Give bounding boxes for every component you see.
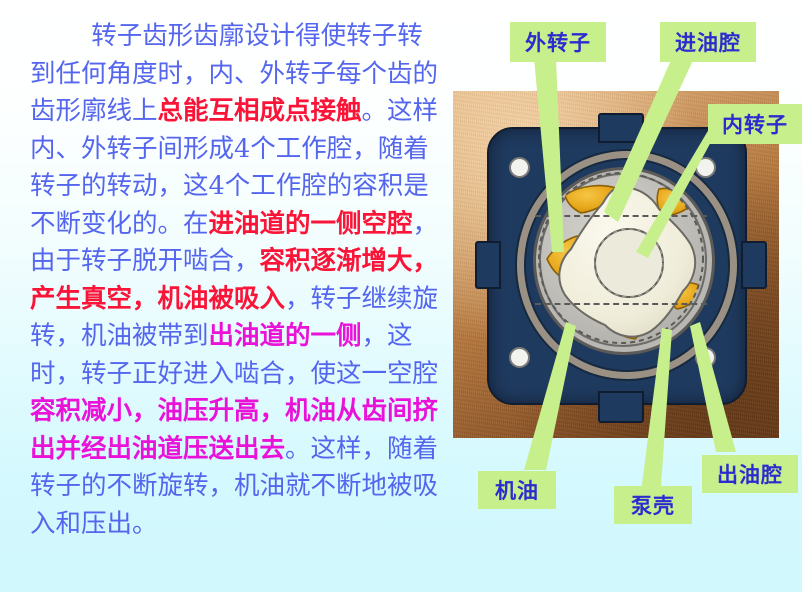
callout-pump-housing-label: 泵壳 — [631, 490, 675, 520]
callout-inlet-chamber[interactable]: 进油腔 — [660, 22, 756, 62]
leader-engine-oil — [524, 322, 576, 470]
callout-engine-oil-label: 机油 — [495, 475, 539, 505]
callout-inner-rotor-label: 内转子 — [722, 109, 788, 139]
leader-pump-housing — [640, 328, 672, 500]
callout-inner-rotor[interactable]: 内转子 — [708, 104, 802, 144]
callout-pump-housing[interactable]: 泵壳 — [614, 486, 692, 524]
callout-engine-oil[interactable]: 机油 — [478, 471, 556, 509]
callout-outlet-chamber-label: 出油腔 — [717, 459, 783, 489]
callout-outer-rotor-label: 外转子 — [525, 27, 591, 57]
callout-outlet-chamber[interactable]: 出油腔 — [702, 455, 798, 493]
leader-outlet-chamber — [690, 322, 736, 452]
callout-inlet-chamber-label: 进油腔 — [675, 27, 741, 57]
slide-canvas: 转子齿形齿廓设计得使转子转到任何角度时，内、外转子每个齿的齿形廓线上总能互相成点… — [0, 0, 802, 592]
callout-outer-rotor[interactable]: 外转子 — [510, 22, 606, 62]
leader-outer-rotor — [534, 58, 564, 252]
